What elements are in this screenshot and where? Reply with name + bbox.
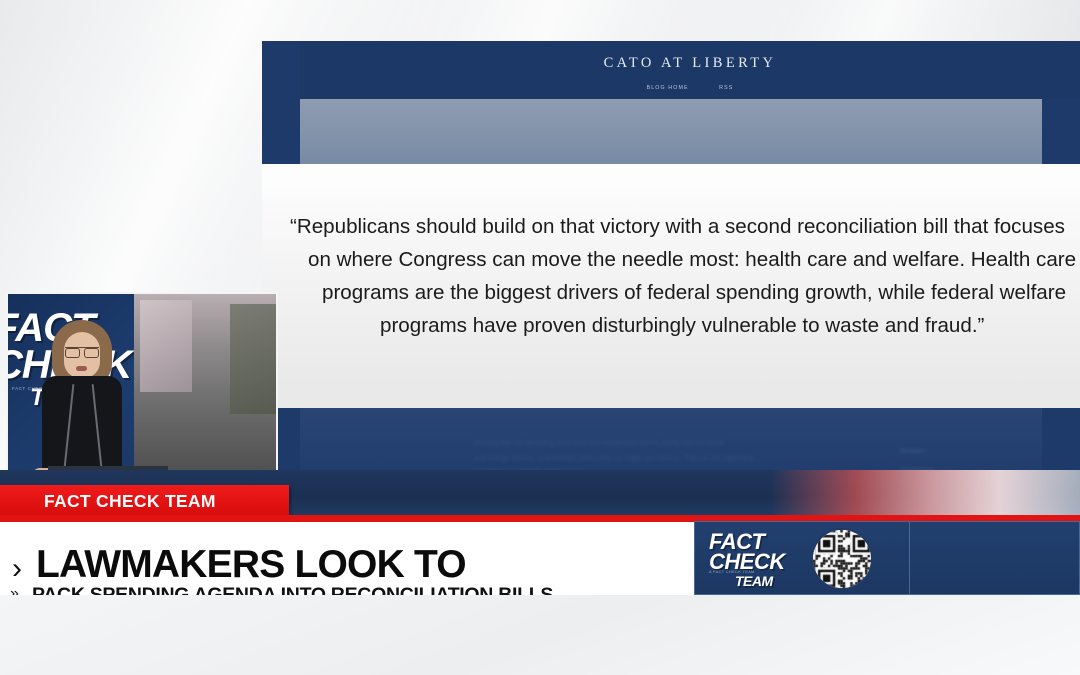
- logo-panel-extension: [910, 521, 1080, 595]
- cato-nav: BLOG HOME RSS: [300, 85, 1080, 91]
- nav-item-blog-home[interactable]: BLOG HOME: [647, 85, 689, 91]
- body-line-2: and energy reforms, a reconciled 2026 cl…: [474, 452, 864, 467]
- bottom-background-bar: [0, 595, 1080, 675]
- anchor-lapel-right: [92, 384, 103, 468]
- flag-accent-graphic: [770, 470, 1080, 515]
- sidebar-link-archives[interactable]: Archives: [900, 443, 1050, 462]
- broadcast-screen: CATO AT LIBERTY BLOG HOME RSS JANUARY 15…: [0, 0, 1080, 675]
- logo-wordmark: FACT CHECK TEAM: [709, 532, 785, 588]
- fact-check-team-logo-panel: FACT CHECK TEAM A FACT CHECK TEAM: [694, 521, 910, 595]
- studio-window-left: [140, 300, 192, 392]
- segment-tab-label: FACT CHECK TEAM: [44, 491, 216, 512]
- chevron-primary-icon: ›: [12, 552, 22, 586]
- body-line-1: pending bills for spending, trust fund a…: [474, 437, 864, 452]
- qr-code-icon[interactable]: [811, 528, 873, 590]
- nav-item-rss[interactable]: RSS: [719, 85, 733, 91]
- news-anchor-avatar: [40, 320, 124, 484]
- quote-text: “Republicans should build on that victor…: [286, 210, 1080, 342]
- torn-edge-top-icon: [262, 164, 1080, 186]
- logo-microtext: A FACT CHECK TEAM: [709, 570, 755, 574]
- logo-line-3: TEAM: [735, 575, 785, 588]
- headline-main: LAWMAKERS LOOK TO: [36, 545, 466, 584]
- quote-line-2: on where Congress can move the needle mo…: [286, 243, 1080, 276]
- anchor-lapel-left: [64, 384, 75, 468]
- cato-site-header: CATO AT LIBERTY BLOG HOME RSS: [300, 41, 1080, 99]
- studio-window-right: [230, 304, 276, 414]
- quote-line-1: “Republicans should build on that victor…: [286, 210, 1080, 243]
- quote-line-3: programs are the biggest drivers of fede…: [286, 276, 1080, 309]
- studio-background: [134, 294, 278, 484]
- quote-line-4: programs have proven disturbingly vulner…: [286, 309, 1080, 342]
- glasses-icon: [65, 347, 99, 355]
- torn-edge-bottom-icon: [262, 386, 1080, 408]
- cato-site-title: CATO AT LIBERTY: [300, 55, 1080, 72]
- segment-tab-fact-check-team: FACT CHECK TEAM: [0, 485, 289, 515]
- pull-quote-overlay: “Republicans should build on that victor…: [262, 178, 1080, 394]
- anchor-video-panel: FACT CHECK TEAM FACT CHECK: [6, 292, 278, 484]
- headline-banner: › LAWMAKERS LOOK TO » PACK SPENDING AGEN…: [0, 522, 694, 595]
- anchor-mouth: [76, 366, 87, 371]
